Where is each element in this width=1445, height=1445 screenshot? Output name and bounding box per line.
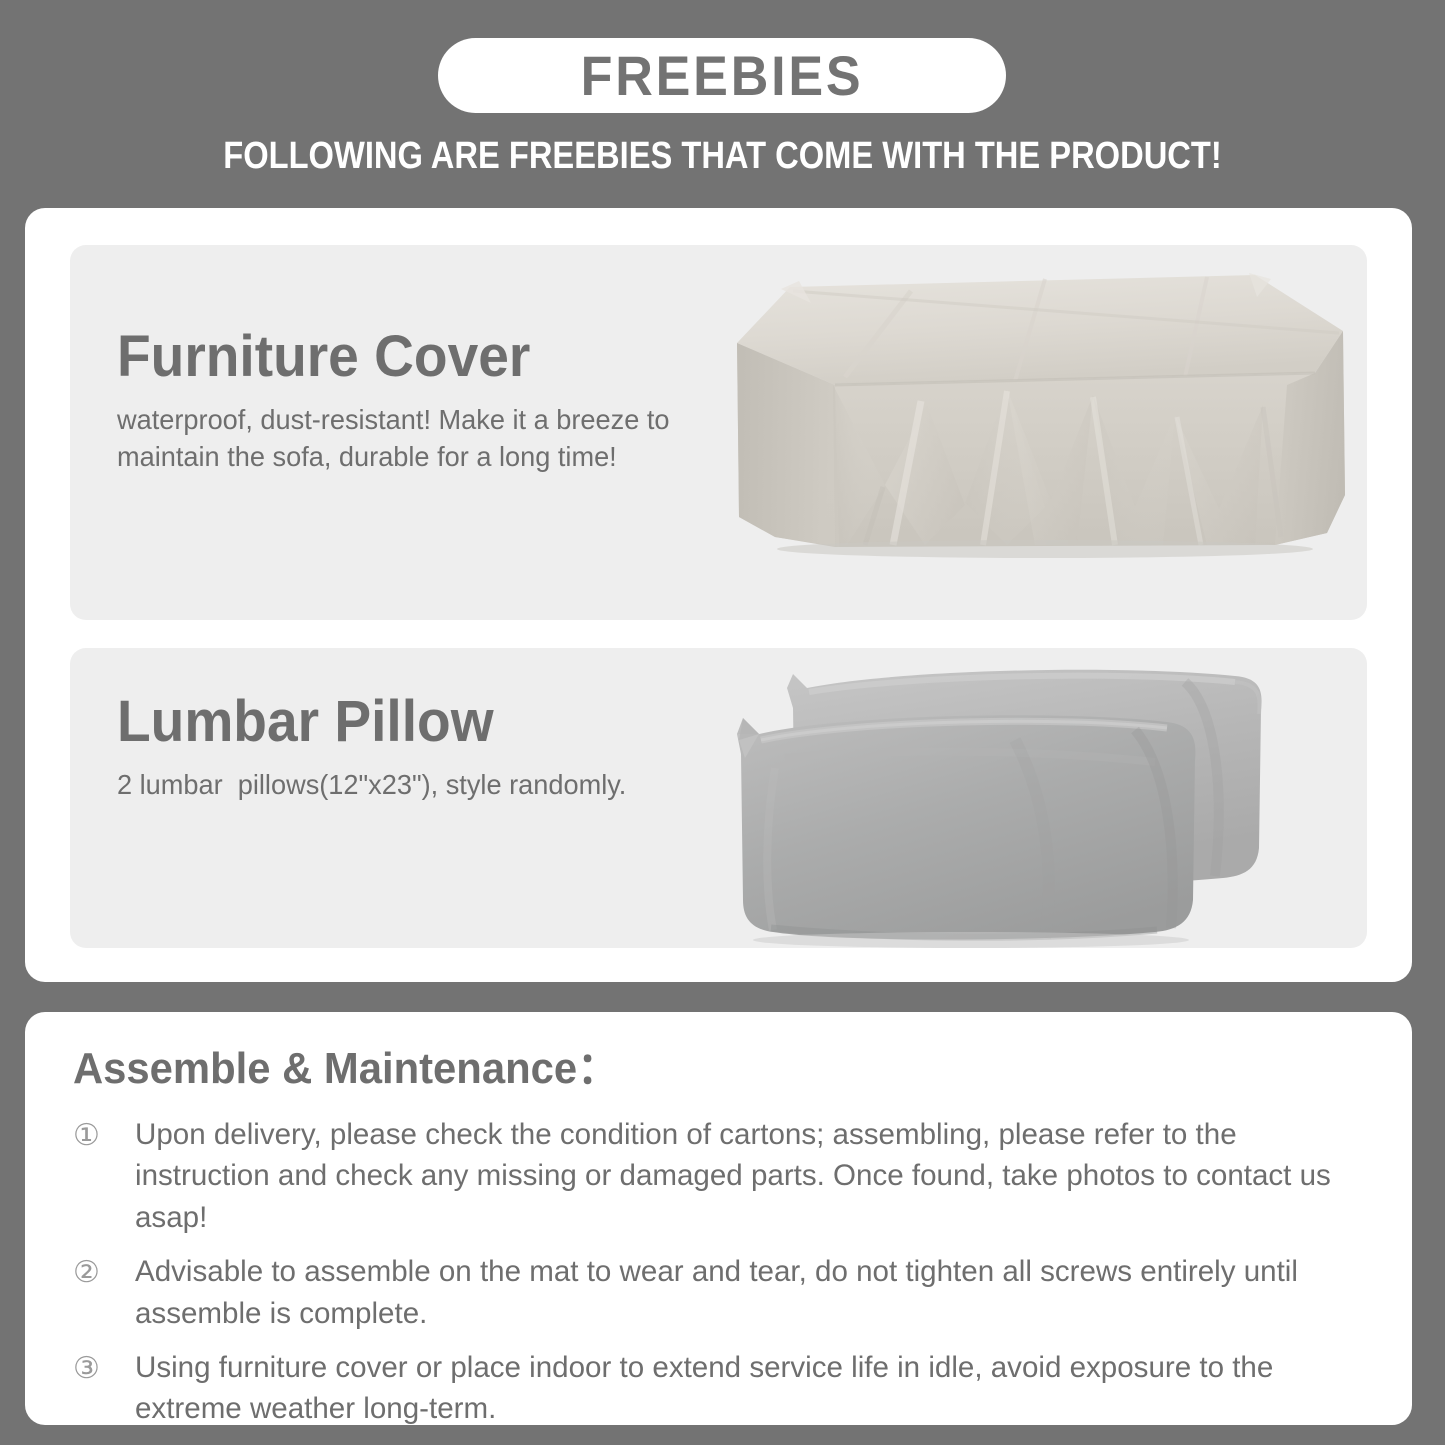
maintenance-list: ① Upon delivery, please check the condit… xyxy=(73,1114,1383,1443)
lumbar-pillow-photo xyxy=(715,648,1367,948)
freebie-panel-furniture-cover: Furniture Cover waterproof, dust-resista… xyxy=(70,245,1367,620)
list-item: ③ Using furniture cover or place indoor … xyxy=(73,1347,1383,1430)
list-item: ① Upon delivery, please check the condit… xyxy=(73,1114,1383,1238)
list-item-text: Advisable to assemble on the mat to wear… xyxy=(135,1251,1364,1334)
furniture-cover-illustration xyxy=(715,245,1367,620)
list-item-number: ① xyxy=(73,1114,135,1156)
freebies-badge-label: FREEBIES xyxy=(581,48,864,104)
freebie-panel-lumbar-pillow: Lumbar Pillow 2 lumbar pillows(12"x23"),… xyxy=(70,648,1367,948)
list-item: ② Advisable to assemble on the mat to we… xyxy=(73,1251,1383,1334)
lumbar-pillow-title: Lumbar Pillow xyxy=(117,692,659,753)
furniture-cover-title: Furniture Cover xyxy=(117,327,659,388)
list-item-text: Upon delivery, please check the conditio… xyxy=(135,1114,1364,1238)
header-subtitle: FOLLOWING ARE FREEBIES THAT COME WITH TH… xyxy=(101,136,1344,178)
maintenance-card: Assemble & Maintenance： ① Upon delivery,… xyxy=(25,1012,1412,1425)
page-header: FREEBIES FOLLOWING ARE FREEBIES THAT COM… xyxy=(0,0,1445,196)
furniture-cover-photo xyxy=(715,245,1367,620)
furniture-cover-description: waterproof, dust-resistant! Make it a br… xyxy=(117,402,670,476)
list-item-text: Using furniture cover or place indoor to… xyxy=(135,1347,1364,1430)
furniture-cover-text-block: Furniture Cover waterproof, dust-resista… xyxy=(117,327,687,476)
freebies-badge: FREEBIES xyxy=(438,38,1006,113)
list-item-number: ② xyxy=(73,1251,135,1293)
freebies-card: Furniture Cover waterproof, dust-resista… xyxy=(25,208,1412,982)
lumbar-pillow-text-block: Lumbar Pillow 2 lumbar pillows(12"x23"),… xyxy=(117,692,687,804)
lumbar-pillow-description: 2 lumbar pillows(12"x23"), style randoml… xyxy=(117,767,670,804)
lumbar-pillow-illustration xyxy=(715,648,1367,948)
maintenance-heading: Assemble & Maintenance： xyxy=(73,1045,619,1093)
list-item-number: ③ xyxy=(73,1347,135,1389)
